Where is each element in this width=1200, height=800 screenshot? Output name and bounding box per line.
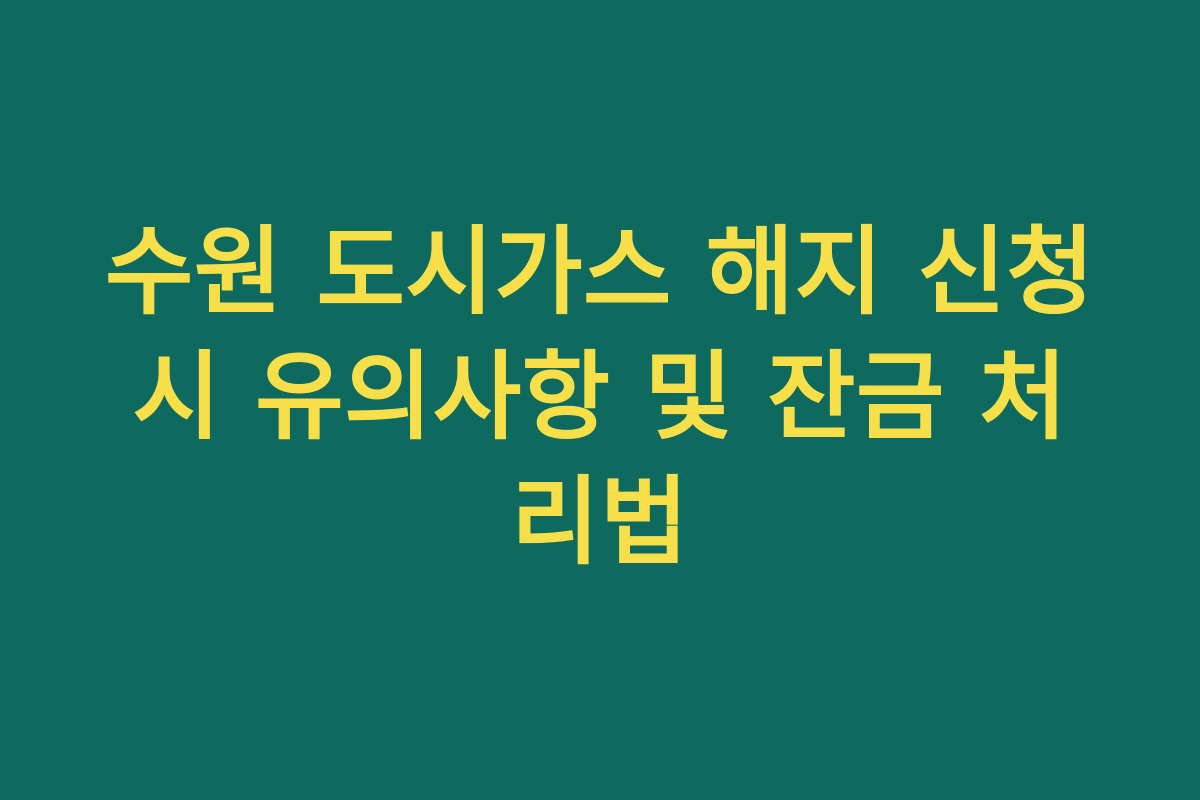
page-title: 수원 도시가스 해지 신청 시 유의사항 및 잔금 처 리법 bbox=[80, 210, 1120, 585]
title-card: 수원 도시가스 해지 신청 시 유의사항 및 잔금 처 리법 bbox=[0, 0, 1200, 800]
title-line-1: 수원 도시가스 해지 신청 bbox=[80, 210, 1120, 335]
title-line-3: 리법 bbox=[80, 460, 1120, 585]
title-line-2: 시 유의사항 및 잔금 처 bbox=[80, 335, 1120, 460]
